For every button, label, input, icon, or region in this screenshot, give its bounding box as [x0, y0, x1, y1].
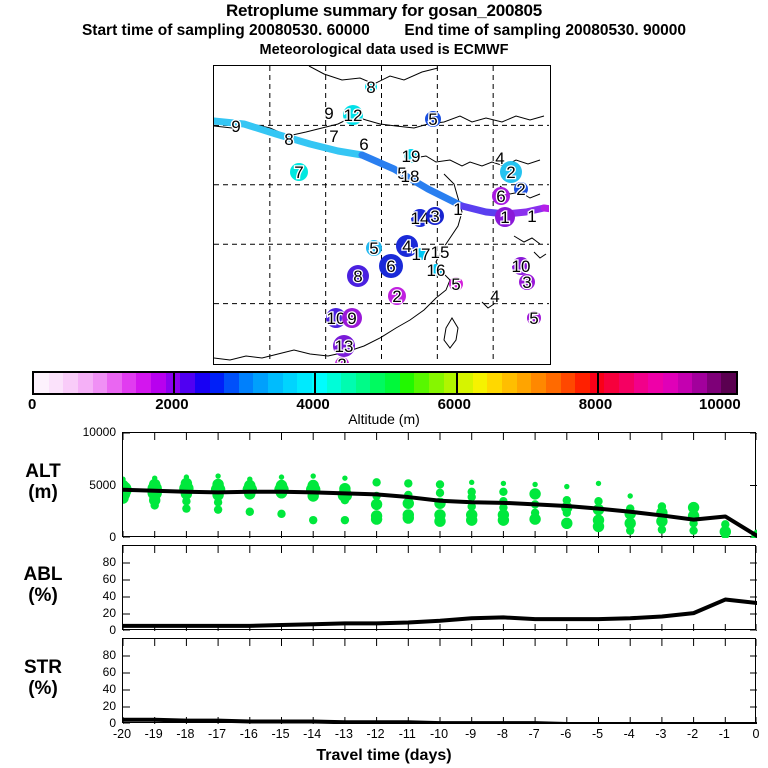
colorbar-swatch	[634, 373, 649, 393]
colorbar-divider	[456, 371, 458, 395]
alt-scatter-dot	[532, 482, 537, 487]
xaxis-tick-label: -2	[680, 727, 706, 741]
alt-scatter-dot	[498, 514, 509, 525]
marker-day-label: 18	[401, 167, 420, 186]
alt-scatter-dot	[279, 474, 284, 479]
alt-scatter-dot	[561, 518, 572, 529]
colorbar-gradient	[32, 371, 738, 395]
alt-scatter-dot	[689, 526, 697, 534]
colorbar-swatch	[575, 373, 590, 393]
marker-day-label: 13	[335, 337, 354, 356]
alt-scatter-dot	[341, 496, 349, 504]
marker-day-label: 5	[369, 239, 378, 258]
colorbar-swatch	[546, 373, 561, 393]
map-canvas: 8129987567195184226114311541715166825103…	[214, 66, 549, 363]
colorbar-swatch	[107, 373, 122, 393]
marker-day-label: 4	[402, 237, 411, 256]
alt-scatter-dot	[182, 497, 190, 505]
colorbar-swatch	[224, 373, 239, 393]
panel-str-ytick-label: 20	[70, 699, 116, 713]
trajectory-marker: 9	[342, 308, 362, 328]
colorbar-swatch	[561, 373, 576, 393]
trajectory-marker: 6	[359, 135, 368, 154]
alt-scatter-dot	[341, 516, 349, 524]
xaxis-tick-label: -19	[141, 727, 167, 741]
panel-alt-ytick-label: 10000	[70, 425, 116, 439]
retroplume-map: 8129987567195184226114311541715166825103…	[213, 65, 551, 365]
marker-day-label: 3	[522, 273, 531, 292]
alt-scatter-dot	[309, 516, 317, 524]
alt-scatter-dot	[151, 501, 159, 509]
colorbar-swatch	[707, 373, 722, 393]
xaxis-tick-label: -4	[616, 727, 642, 741]
trajectory-marker: 5	[449, 275, 463, 294]
alt-scatter-dot	[436, 480, 444, 488]
panel-str-canvas	[123, 639, 757, 724]
trajectory-marker: 7	[290, 163, 308, 182]
marker-day-label: 12	[344, 106, 363, 125]
panel-abl-label-name: ABL	[8, 564, 78, 585]
alt-scatter-dot	[434, 516, 445, 527]
xaxis-tick-label: -7	[521, 727, 547, 741]
marker-day-label: 16	[427, 261, 446, 280]
colorbar-swatch	[531, 373, 546, 393]
alt-scatter-dot	[182, 504, 190, 512]
colorbar-swatch	[253, 373, 268, 393]
colorbar-swatch	[385, 373, 400, 393]
marker-day-label: 2	[392, 287, 401, 306]
colorbar-swatch	[692, 373, 707, 393]
colorbar-divider	[314, 371, 316, 395]
alt-scatter-dot	[342, 475, 347, 480]
title-block: Retroplume summary for gosan_200805 Star…	[0, 0, 768, 59]
trajectory-marker: 6	[492, 187, 510, 206]
trajectory-marker: 4	[490, 287, 499, 306]
colorbar-swatch	[429, 373, 444, 393]
panel-abl-ytick-label: 20	[70, 606, 116, 620]
panel-alt-ytick-label: 0	[70, 530, 116, 544]
panel-str	[122, 638, 756, 723]
panel-str-label: STR(%)	[8, 657, 78, 699]
met-data-label: Meteorological data used is ECMWF	[0, 41, 768, 59]
colorbar-swatch	[151, 373, 166, 393]
alt-scatter-dot	[658, 525, 666, 533]
trajectory-marker: 8	[347, 265, 369, 287]
end-time-label: End time of sampling 20080530. 90000	[404, 22, 686, 39]
alt-scatter-dot	[563, 509, 571, 517]
marker-day-label: 8	[366, 78, 375, 97]
colorbar-swatch	[195, 373, 210, 393]
xaxis-tick-label: -13	[331, 727, 357, 741]
trajectory-marker: 3	[519, 273, 535, 292]
xaxis-tick-label: -8	[489, 727, 515, 741]
alt-scatter-dot	[215, 473, 220, 478]
alt-scatter-dot	[371, 499, 382, 510]
trajectory-marker: 2	[514, 180, 528, 199]
xaxis-tick-label: -11	[394, 727, 420, 741]
trajectory-marker: 5	[366, 239, 382, 258]
marker-day-label: 2	[506, 163, 515, 182]
colorbar-swatch	[122, 373, 137, 393]
marker-day-label: 5	[451, 275, 460, 294]
trajectory-marker: 18	[401, 167, 420, 186]
xaxis-tick-label: -5	[585, 727, 611, 741]
colorbar-swatch	[458, 373, 473, 393]
trajectory-marker: 9	[324, 104, 333, 123]
trajectory-marker: 5	[527, 309, 541, 328]
trajectory-marker: 1	[495, 207, 515, 227]
xaxis-tick-label: -17	[204, 727, 230, 741]
alt-scatter-dot	[468, 493, 476, 501]
xaxis-tick-label: -12	[363, 727, 389, 741]
panel-abl-ytick-label: 80	[70, 555, 116, 569]
marker-day-label: 7	[294, 163, 303, 182]
marker-day-label: 9	[231, 117, 240, 136]
trajectory-marker: 15	[431, 243, 450, 262]
xaxis-title: Travel time (days)	[0, 747, 768, 765]
trajectory-marker: 1	[453, 200, 462, 219]
marker-day-label: 5	[428, 110, 437, 129]
alt-scatter-dot	[436, 489, 444, 497]
xaxis-tick-label: -15	[268, 727, 294, 741]
panel-alt	[122, 432, 756, 537]
panel-alt-canvas	[123, 433, 757, 538]
xaxis-tick-label: -1	[711, 727, 737, 741]
colorbar-swatch	[356, 373, 371, 393]
page-title: Retroplume summary for gosan_200805	[0, 0, 768, 21]
colorbar-swatch	[63, 373, 78, 393]
trajectory-markers: 8129987567195184226114311541715166825103…	[231, 78, 541, 363]
panel-alt-label-name: ALT	[8, 461, 78, 482]
alt-scatter-dot	[311, 473, 316, 478]
colorbar-swatch	[341, 373, 356, 393]
alt-scatter-dot	[277, 510, 285, 518]
alt-scatter-dot	[214, 505, 222, 513]
marker-day-label: 15	[431, 243, 450, 262]
alt-scatter-dot	[469, 480, 474, 485]
xaxis-tick-label: -14	[299, 727, 325, 741]
alt-scatter-dot	[593, 521, 604, 532]
alt-scatter-dot	[404, 479, 412, 487]
xaxis-tick-label: -18	[172, 727, 198, 741]
marker-day-label: 1	[500, 208, 509, 227]
colorbar-divider	[173, 371, 175, 395]
trajectory-marker: 13	[333, 335, 355, 357]
alt-scatter-dot	[626, 526, 634, 534]
panel-abl-label-unit: (%)	[8, 585, 78, 606]
alt-scatter-dot	[564, 484, 569, 489]
altitude-colorbar	[32, 371, 738, 395]
colorbar-swatch	[370, 373, 385, 393]
trajectory-marker: 8	[284, 130, 293, 149]
colorbar-swatch	[210, 373, 225, 393]
colorbar-swatch	[400, 373, 415, 393]
sampling-time-line: Start time of sampling 20080530. 60000 E…	[0, 21, 768, 41]
panel-str-label-unit: (%)	[8, 678, 78, 699]
trajectory-marker: 5	[425, 110, 441, 129]
colorbar-swatch	[239, 373, 254, 393]
trajectory-marker: 1	[527, 207, 536, 226]
panel-abl-ytick-label: 40	[70, 589, 116, 603]
colorbar-swatch	[34, 373, 49, 393]
xaxis-tick-label: -16	[236, 727, 262, 741]
xaxis-tick-label: -6	[553, 727, 579, 741]
trajectory-marker: 16	[427, 261, 446, 280]
trajectory-marker: 6	[379, 254, 403, 278]
alt-scatter-dot	[466, 514, 477, 525]
panel-str-ytick-label: 60	[70, 665, 116, 679]
colorbar-swatch	[502, 373, 517, 393]
colorbar-swatch	[487, 373, 502, 393]
panel-alt-ytick-label: 5000	[70, 478, 116, 492]
marker-day-label: 4	[490, 287, 499, 306]
alt-scatter-dot	[371, 513, 382, 524]
trajectory-segment	[544, 208, 549, 209]
xaxis-tick-label: -20	[109, 727, 135, 741]
marker-day-label: 6	[496, 187, 505, 206]
marker-day-label: 1	[453, 200, 462, 219]
colorbar-swatch	[721, 373, 736, 393]
xaxis-tick-label: -3	[648, 727, 674, 741]
colorbar-swatch	[49, 373, 64, 393]
panel-alt-label-unit: (m)	[8, 482, 78, 503]
panel-abl-mean-line	[123, 600, 757, 626]
colorbar-swatch	[619, 373, 634, 393]
panel-alt-label: ALT(m)	[8, 461, 78, 503]
alt-scatter-dot	[403, 512, 414, 523]
alt-scatter-dot	[529, 513, 540, 524]
alt-scatter-dot	[596, 481, 601, 486]
panel-str-ytick-label: 40	[70, 682, 116, 696]
colorbar-swatch	[327, 373, 342, 393]
colorbar-swatch	[78, 373, 93, 393]
colorbar-swatch	[517, 373, 532, 393]
alt-scatter-dot	[246, 508, 254, 516]
panel-abl-ytick-label: 60	[70, 572, 116, 586]
trajectory-marker: 7	[329, 127, 338, 146]
alt-scatter-dot	[501, 481, 506, 486]
colorbar-swatch	[678, 373, 693, 393]
colorbar-swatch	[473, 373, 488, 393]
panel-abl	[122, 545, 756, 630]
colorbar-swatch	[268, 373, 283, 393]
colorbar-swatch	[180, 373, 195, 393]
panel-abl-canvas	[123, 546, 757, 631]
colorbar-swatch	[297, 373, 312, 393]
marker-day-label: 2	[516, 180, 525, 199]
trajectory-marker: 8	[365, 78, 377, 97]
panel-str-label-name: STR	[8, 657, 78, 678]
alt-scatter-dot	[628, 493, 633, 498]
colorbar-swatch	[283, 373, 298, 393]
colorbar-swatch	[414, 373, 429, 393]
marker-day-label: 9	[347, 309, 356, 328]
alt-scatter-dot	[529, 488, 540, 499]
marker-day-label: 3	[430, 207, 439, 226]
alt-scatter-dot	[372, 478, 380, 486]
marker-day-label: 6	[386, 257, 395, 276]
panel-str-ytick-label: 80	[70, 648, 116, 662]
xaxis-tick-label: -9	[458, 727, 484, 741]
panel-abl-ytick-label: 0	[70, 623, 116, 637]
trajectory-marker: 9	[231, 117, 240, 136]
colorbar-swatch	[663, 373, 678, 393]
marker-day-label: 6	[359, 135, 368, 154]
marker-day-label: 5	[529, 309, 538, 328]
panel-abl-label: ABL(%)	[8, 564, 78, 606]
trajectory-marker: 12	[343, 105, 363, 125]
marker-day-label: 1	[527, 207, 536, 226]
alt-scatter-dot	[499, 488, 507, 496]
alt-scatter-dot	[214, 498, 222, 506]
colorbar-swatch	[136, 373, 151, 393]
xaxis-tick-label: 0	[743, 727, 768, 741]
xaxis-tick-label: -10	[426, 727, 452, 741]
colorbar-swatch	[648, 373, 663, 393]
colorbar-swatch	[93, 373, 108, 393]
marker-day-label: 7	[329, 127, 338, 146]
marker-day-label: 9	[324, 104, 333, 123]
marker-day-label: 2	[337, 355, 346, 363]
start-time-label: Start time of sampling 20080530. 60000	[82, 22, 370, 39]
colorbar-swatch	[604, 373, 619, 393]
marker-day-label: 8	[284, 130, 293, 149]
marker-day-label: 8	[353, 267, 362, 286]
colorbar-divider	[597, 371, 599, 395]
